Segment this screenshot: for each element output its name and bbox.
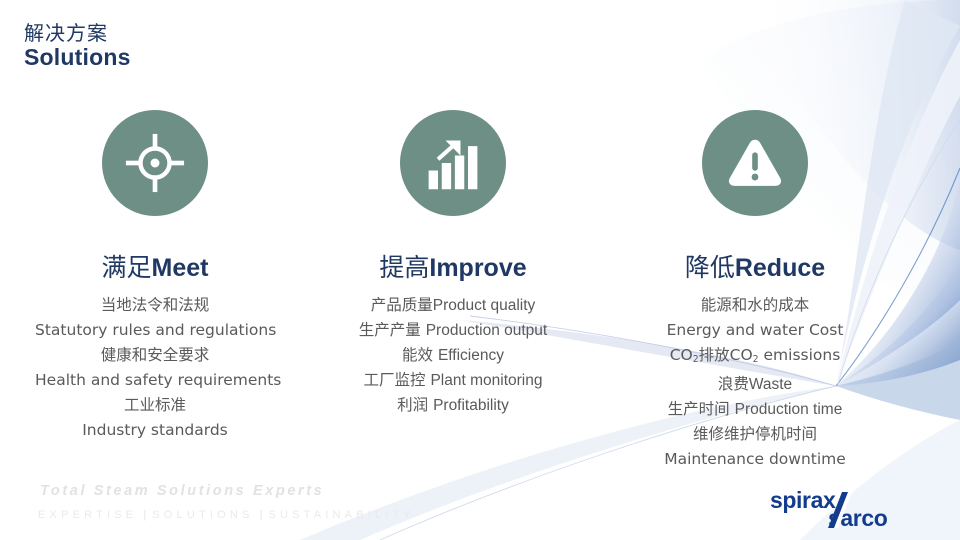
list-item-cn: 生产产量 (359, 321, 421, 339)
slide-canvas: 解决方案 Solutions 满足Meet 当地法令和法规 Statutory … (0, 0, 960, 540)
list-item: 生产时间 Production time (630, 397, 880, 422)
list-item-cn: 能效 (402, 346, 433, 364)
list-item: 生产产量 Production output (333, 318, 573, 343)
list-item-en: Waste (749, 376, 792, 393)
list-item: 健康和安全要求 (35, 343, 275, 368)
list-item-cn: 工厂监控 (364, 371, 426, 389)
footer-pillars: EXPERTISE|SOLUTIONS|SUSTAINABILITY (38, 509, 415, 521)
column-lines-improve: 产品质量Product quality 生产产量 Production outp… (333, 293, 573, 418)
logo-word-spirax: spirax (770, 487, 836, 513)
list-item-en: Profitability (433, 397, 509, 414)
column-lines-reduce: 能源和水的成本 Energy and water Cost CO2排放CO2 e… (630, 293, 880, 472)
column-lines-meet: 当地法令和法规 Statutory rules and regulations … (35, 293, 275, 443)
column-heading-improve: 提高Improve (333, 248, 573, 284)
list-item: 工业标准 (35, 393, 275, 418)
warning-triangle-icon (724, 132, 786, 194)
column-heading-en: Improve (429, 254, 526, 282)
column-heading-cn: 提高 (379, 253, 429, 282)
list-item-en: Production output (426, 322, 548, 339)
icon-circle-meet (102, 110, 208, 216)
list-item-co2: CO2排放CO2 emissions (630, 343, 880, 372)
icon-circle-improve (400, 110, 506, 216)
target-crosshair-icon (124, 132, 186, 194)
icon-circle-reduce (702, 110, 808, 216)
list-item: 能源和水的成本 (630, 293, 880, 318)
list-item: Maintenance downtime (630, 447, 880, 472)
list-item-en: Production time (735, 401, 843, 418)
list-item: 浪费Waste (630, 372, 880, 397)
footer-pillar-solutions: SOLUTIONS (152, 509, 253, 521)
page-title-english: Solutions (24, 45, 131, 71)
list-item-en: Product quality (433, 297, 536, 314)
column-heading-meet: 满足Meet (35, 248, 275, 284)
column-improve: 提高Improve 产品质量Product quality 生产产量 Produ… (333, 110, 573, 418)
list-item: Statutory rules and regulations (35, 318, 275, 343)
page-title: 解决方案 Solutions (24, 22, 131, 71)
footer-separator: | (254, 509, 269, 521)
list-item-cn: 生产时间 (668, 400, 730, 418)
footer-pillar-expertise: EXPERTISE (38, 509, 137, 521)
column-heading-reduce: 降低Reduce (630, 248, 880, 284)
column-heading-en: Meet (152, 254, 209, 282)
list-item: Industry standards (35, 418, 275, 443)
list-item-en: Plant monitoring (430, 372, 542, 389)
list-item: 产品质量Product quality (333, 293, 573, 318)
list-item: 能效 Efficiency (333, 343, 573, 368)
list-item: 利润 Profitability (333, 393, 573, 418)
list-item: 工厂监控 Plant monitoring (333, 368, 573, 393)
list-item-en: Efficiency (438, 347, 504, 364)
column-heading-cn: 满足 (102, 253, 152, 282)
list-item: Health and safety requirements (35, 368, 275, 393)
footer-tagline: Total Steam Solutions Experts (40, 483, 324, 499)
list-item: 当地法令和法规 (35, 293, 275, 318)
list-item-cn: 浪费 (718, 375, 749, 393)
list-item-cn: 产品质量 (371, 296, 433, 314)
list-item: 维修维护停机时间 (630, 422, 880, 447)
list-item: Energy and water Cost (630, 318, 880, 343)
bar-chart-growth-icon (423, 133, 483, 193)
column-heading-cn: 降低 (685, 253, 735, 282)
footer-pillar-sustainability: SUSTAINABILITY (268, 509, 415, 521)
list-item-cn: 利润 (397, 396, 428, 414)
page-title-chinese: 解决方案 (24, 22, 131, 44)
column-reduce: 降低Reduce 能源和水的成本 Energy and water Cost C… (630, 110, 880, 472)
spirax-sarco-logo: spirax sarco (768, 486, 944, 532)
column-meet: 满足Meet 当地法令和法规 Statutory rules and regul… (35, 110, 275, 443)
column-heading-en: Reduce (735, 254, 825, 282)
footer-separator: | (137, 509, 152, 521)
